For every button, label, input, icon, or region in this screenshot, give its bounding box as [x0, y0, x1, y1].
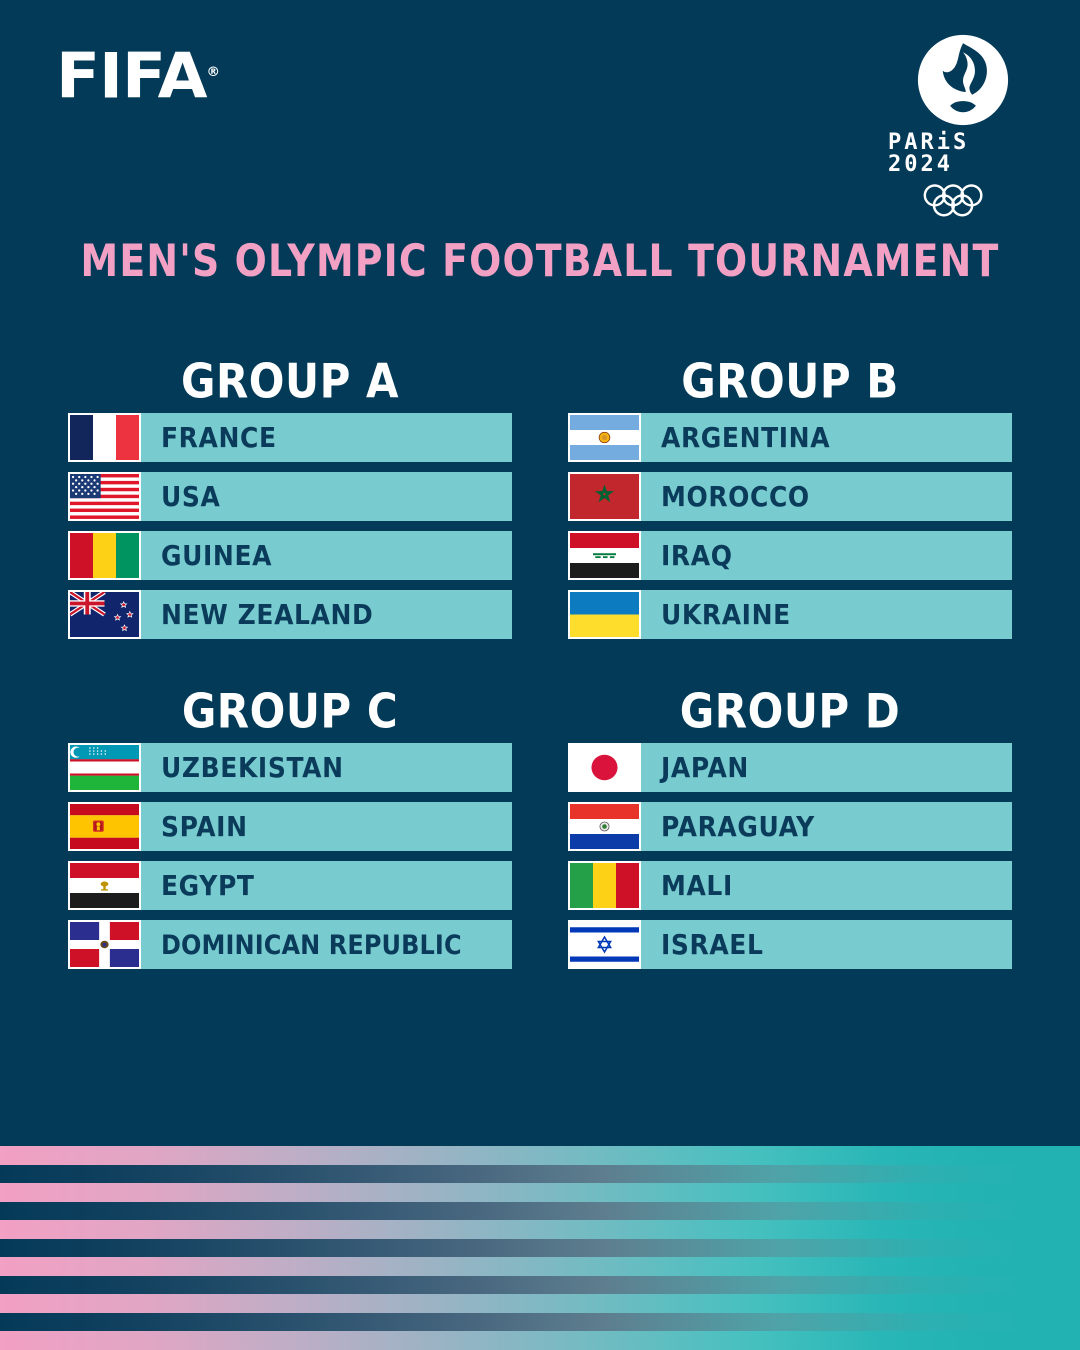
stripe-navy	[0, 1165, 1080, 1183]
olympic-rings-icon	[921, 183, 1005, 217]
flag-egypt-icon	[70, 863, 139, 908]
paris-2024-logo: PARiS 2024	[888, 34, 1038, 217]
table-row[interactable]: EGYPT	[68, 861, 512, 910]
group-block-b: GROUP B ARGENTINA	[568, 355, 1012, 649]
stripe-navy	[0, 1313, 1080, 1331]
team-name: JAPAN	[641, 743, 1012, 792]
flag-usa-icon	[70, 474, 139, 519]
table-row[interactable]: GUINEA	[68, 531, 512, 580]
page-header: FIFA® PARiS 2024	[0, 0, 1080, 210]
group-a-heading: GROUP A	[68, 355, 512, 420]
flag-box	[68, 861, 141, 910]
team-name: NEW ZEALAND	[141, 590, 512, 639]
flag-japan-icon	[570, 745, 639, 790]
table-row[interactable]: IRAQ	[568, 531, 1012, 580]
table-row[interactable]: UZBEKISTAN	[68, 743, 512, 792]
team-name: UZBEKISTAN	[141, 743, 512, 792]
paris-2024-wordmark: PARiS 2024	[888, 132, 1038, 176]
group-block-c: GROUP C	[68, 685, 512, 979]
team-name: EGYPT	[141, 861, 512, 910]
table-row[interactable]: FRANCE	[68, 413, 512, 462]
team-name: GUINEA	[141, 531, 512, 580]
flag-box	[568, 802, 641, 851]
team-name: IRAQ	[641, 531, 1012, 580]
table-row[interactable]: ARGENTINA	[568, 413, 1012, 462]
group-block-a: GROUP A FRANCE	[68, 355, 512, 649]
paris-flame-emblem-icon	[917, 34, 1009, 126]
table-row[interactable]: ISRAEL	[568, 920, 1012, 969]
team-name: FRANCE	[141, 413, 512, 462]
stripe-pink	[0, 1146, 1080, 1165]
flag-box	[68, 920, 141, 969]
flag-uzbekistan-icon	[70, 745, 139, 790]
team-name: PARAGUAY	[641, 802, 1012, 851]
flag-new-zealand-icon	[70, 592, 139, 637]
flag-box	[68, 802, 141, 851]
table-row[interactable]: PARAGUAY	[568, 802, 1012, 851]
flag-box	[568, 861, 641, 910]
flag-guinea-icon	[70, 533, 139, 578]
stripe-pink	[0, 1331, 1080, 1350]
table-row[interactable]: MOROCCO	[568, 472, 1012, 521]
team-name: SPAIN	[141, 802, 512, 851]
flag-spain-icon	[70, 804, 139, 849]
team-name: UKRAINE	[641, 590, 1012, 639]
table-row[interactable]: SPAIN	[68, 802, 512, 851]
stripe-navy	[0, 1239, 1080, 1257]
group-d-heading: GROUP D	[568, 685, 1012, 750]
table-row[interactable]: MALI	[568, 861, 1012, 910]
bottom-stripe-decoration	[0, 1146, 1080, 1350]
team-name: ISRAEL	[641, 920, 1012, 969]
page-title: MEN'S OLYMPIC FOOTBALL TOURNAMENT	[16, 236, 1064, 287]
stripe-pink	[0, 1220, 1080, 1239]
stripe-pink	[0, 1257, 1080, 1276]
flag-box	[568, 413, 641, 462]
flag-box	[68, 590, 141, 639]
flag-box	[568, 920, 641, 969]
flag-morocco-icon	[570, 474, 639, 519]
flag-box	[68, 413, 141, 462]
flag-box	[568, 743, 641, 792]
stripe-pink	[0, 1183, 1080, 1202]
flag-israel-icon	[570, 922, 639, 967]
team-name: ARGENTINA	[641, 413, 1012, 462]
stripe-navy	[0, 1202, 1080, 1220]
flag-dominican-republic-icon	[70, 922, 139, 967]
group-c-heading: GROUP C	[68, 685, 512, 750]
team-name: MALI	[641, 861, 1012, 910]
team-name: USA	[141, 472, 512, 521]
table-row[interactable]: UKRAINE	[568, 590, 1012, 639]
flag-box	[568, 531, 641, 580]
flag-ukraine-icon	[570, 592, 639, 637]
stripe-pink	[0, 1294, 1080, 1313]
flag-paraguay-icon	[570, 804, 639, 849]
fifa-logo-text: FIFA	[56, 40, 206, 113]
flag-france-icon	[70, 415, 139, 460]
flag-mali-icon	[570, 863, 639, 908]
table-row[interactable]: NEW ZEALAND	[68, 590, 512, 639]
table-row[interactable]: USA	[68, 472, 512, 521]
table-row[interactable]: DOMINICAN REPUBLIC	[68, 920, 512, 969]
group-b-heading: GROUP B	[568, 355, 1012, 420]
table-row[interactable]: JAPAN	[568, 743, 1012, 792]
flag-argentina-icon	[570, 415, 639, 460]
flag-box	[68, 472, 141, 521]
team-name: DOMINICAN REPUBLIC	[141, 920, 512, 969]
fifa-logo: FIFA®	[56, 42, 220, 108]
group-grid: GROUP A FRANCE	[68, 355, 1012, 979]
flag-box	[68, 743, 141, 792]
registered-trademark-icon: ®	[206, 65, 220, 80]
group-block-d: GROUP D JAPAN	[568, 685, 1012, 979]
team-name: MOROCCO	[641, 472, 1012, 521]
flag-box	[568, 472, 641, 521]
stripe-navy	[0, 1276, 1080, 1294]
flag-box	[68, 531, 141, 580]
flag-iraq-icon	[570, 533, 639, 578]
flag-box	[568, 590, 641, 639]
